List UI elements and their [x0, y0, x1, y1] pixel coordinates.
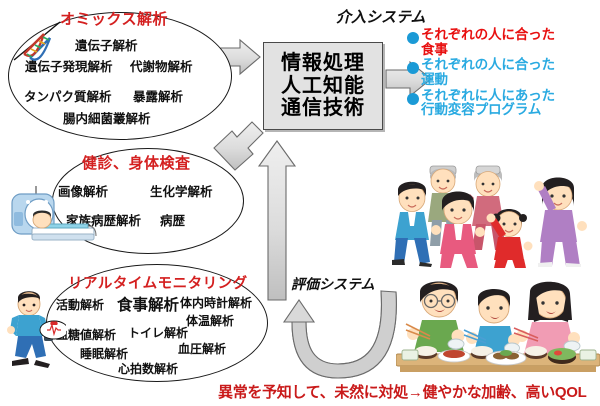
arrow-monitoring-to-core	[259, 141, 295, 300]
omics-term-3: タンパク質解析	[24, 86, 112, 105]
intervention-item-1-text: それぞれの人に合った 運動	[421, 58, 555, 87]
monitoring-term-5: 体温解析	[186, 312, 234, 329]
bullet-dot-icon	[407, 62, 419, 74]
walking-person-smartwatch-icon	[2, 284, 66, 370]
core-processing-box: 情報処理 人工知能 通信技術	[263, 42, 383, 130]
omics-term-5: 腸内細菌叢解析	[63, 108, 151, 127]
intervention-item-2-text: それぞれに人にあった 行動変容プログラム	[421, 89, 555, 118]
bottom-caption: 異常を予知して、未然に対処→健やかな加齢、高いQOL	[218, 381, 587, 402]
checkup-term-3: 病歴	[160, 210, 185, 229]
checkup-title: 健診、身体検査	[82, 152, 191, 173]
evaluation-system-label: 評価システム	[291, 274, 375, 294]
monitoring-term-8: 心拍数解析	[118, 360, 178, 377]
monitoring-term-2: 体内時計解析	[180, 294, 252, 311]
core-line-1: 人工知能	[281, 75, 365, 97]
monitoring-title: リアルタイムモニタリング	[68, 272, 248, 293]
family-dining-icon	[396, 274, 600, 384]
bullet-dot-icon	[407, 93, 419, 105]
core-line-2: 通信技術	[281, 97, 365, 119]
intervention-bullet-list: それぞれの人に合った 食事 それぞれの人に合った 運動 それぞれに人にあった 行…	[407, 28, 600, 119]
monitoring-term-7: 血圧解析	[178, 340, 226, 357]
monitoring-term-4: トイレ解析	[128, 324, 188, 341]
omics-term-0: 遺伝子解析	[75, 35, 138, 54]
dna-helix-icon	[10, 16, 66, 68]
intervention-system-label: 介入システム	[336, 6, 426, 27]
bullet-dot-icon	[407, 32, 419, 44]
intervention-item-1: それぞれの人に合った 運動	[407, 58, 600, 87]
feedback-loop-arrow	[284, 291, 396, 378]
core-line-0: 情報処理	[281, 52, 365, 74]
omics-term-2: 代謝物解析	[130, 56, 193, 75]
checkup-term-1: 生化学解析	[150, 181, 213, 200]
intervention-item-0-text: それぞれの人に合った 食事	[421, 28, 555, 57]
intervention-item-2: それぞれに人にあった 行動変容プログラム	[407, 89, 600, 118]
monitoring-term-1: 食事解析	[117, 293, 179, 315]
infographic-canvas: オミックス解析 遺伝子解析 遺伝子発現解析 代謝物解析 タンパク質解析 暴露解析…	[0, 0, 600, 406]
omics-title: オミックス解析	[60, 8, 168, 29]
omics-term-4: 暴露解析	[133, 86, 183, 105]
intervention-item-0: それぞれの人に合った 食事	[407, 28, 600, 57]
arrow-checkup-to-core	[214, 122, 263, 170]
group-exercise-icon	[392, 160, 600, 268]
mri-scanner-icon	[2, 182, 98, 248]
